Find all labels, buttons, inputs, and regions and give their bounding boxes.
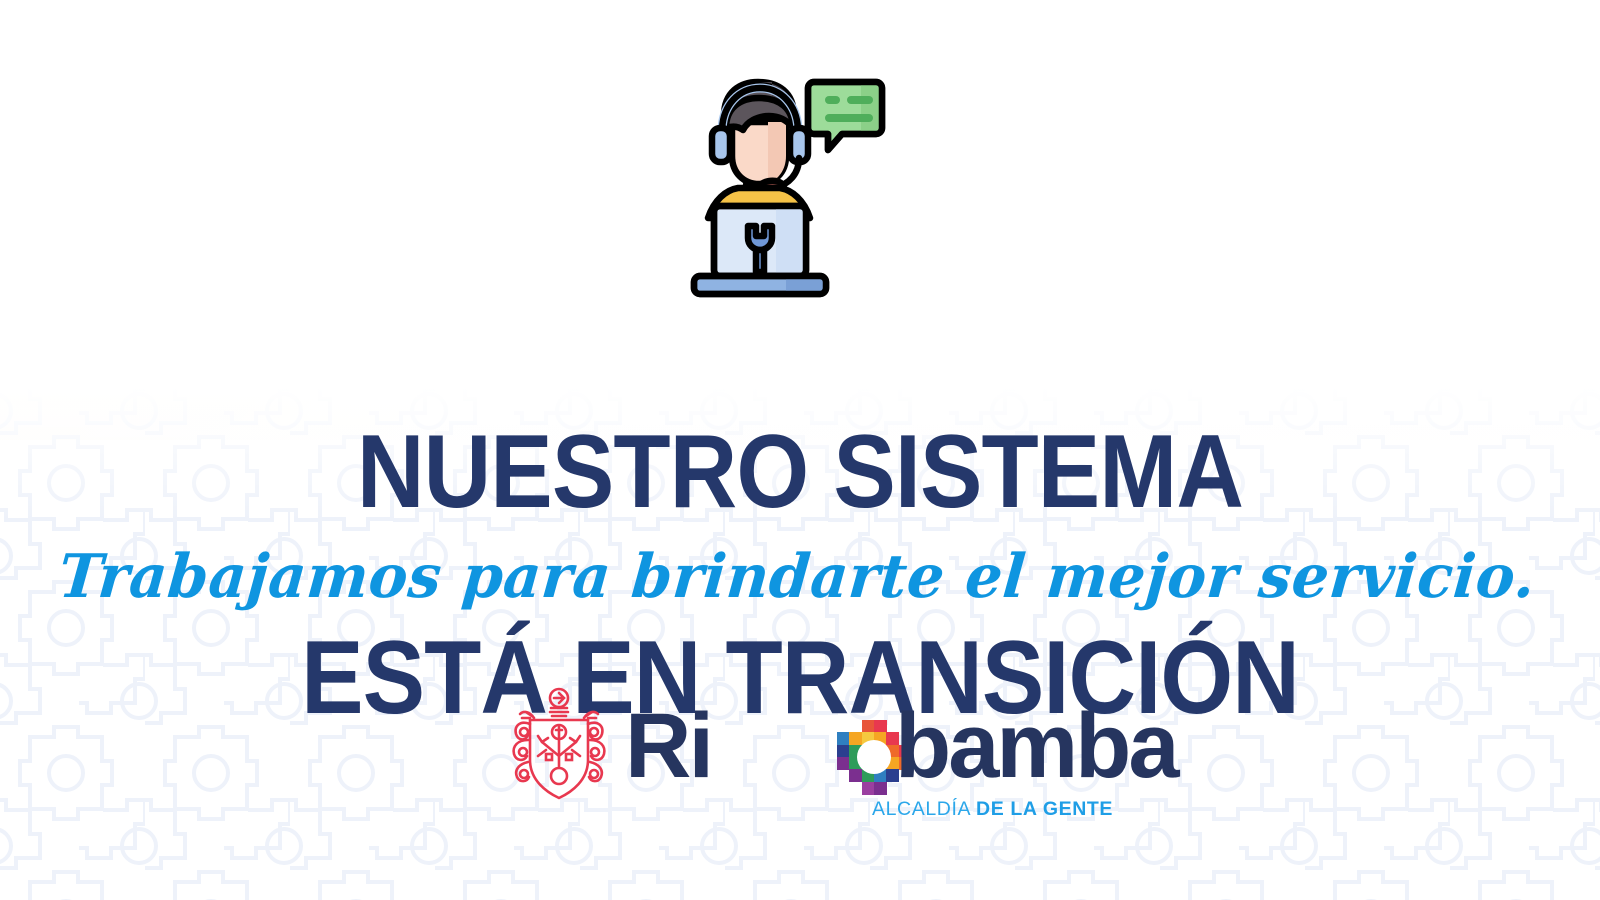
mosaic-tile — [862, 720, 875, 733]
mosaic-tile — [837, 732, 850, 745]
mosaic-tile — [849, 732, 862, 745]
mosaic-tile — [874, 720, 887, 733]
tagline-part-2: DE LA GENTE — [976, 798, 1113, 820]
mosaic-tile — [837, 757, 850, 770]
headset-left-cup — [712, 128, 730, 162]
riobamba-coat-of-arms — [506, 684, 612, 804]
headline-line-1: NUESTRO SISTEMA — [80, 421, 1520, 524]
riobamba-logo: Ri bamba ALCALDÍA DE LA GENTE — [500, 682, 1100, 832]
mosaic-tile — [849, 769, 862, 782]
tagline-part-1: ALCALDÍA — [872, 798, 976, 820]
mosaic-tile — [862, 782, 875, 795]
wordmark-bamba: bamba — [895, 700, 1177, 792]
banner-canvas: NUESTRO SISTEMA ESTÁ EN TRANSICIÓN Traba… — [0, 0, 1600, 900]
logo-tagline: ALCALDÍA DE LA GENTE — [872, 798, 1113, 821]
support-agent-with-headset-and-chat-bubble-icon — [686, 70, 906, 300]
wordmark-ri: Ri — [625, 700, 711, 792]
mosaic-center-circle — [857, 740, 891, 774]
mosaic-tile — [874, 782, 887, 795]
mosaic-tile — [837, 745, 850, 758]
subtitle: Trabajamos para brindarte el mejor servi… — [18, 542, 1576, 612]
